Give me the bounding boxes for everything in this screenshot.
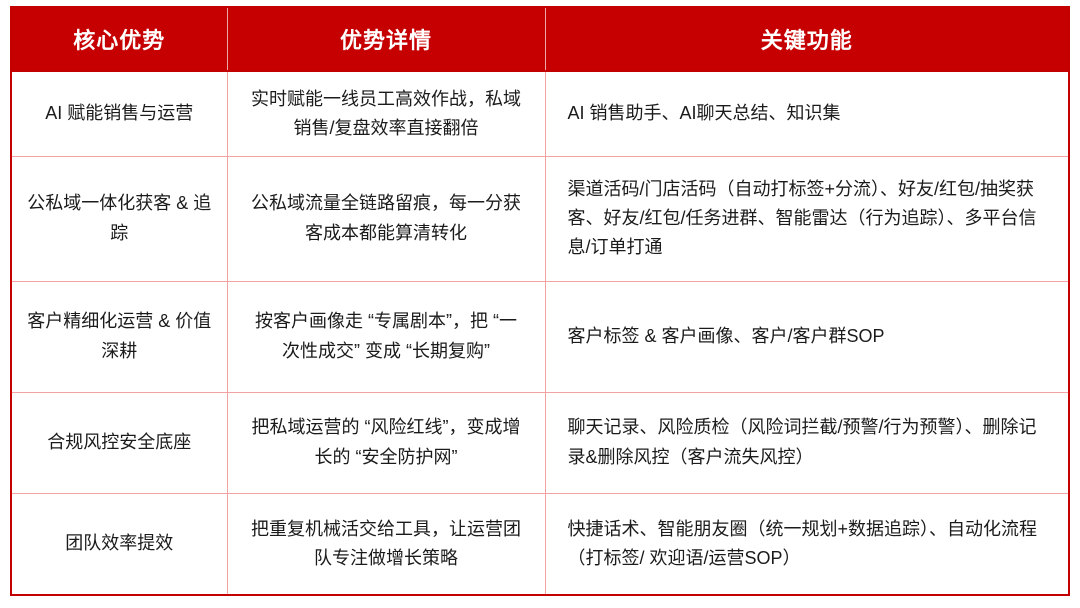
table-row: AI 赋能销售与运营 实时赋能一线员工高效作战，私域销售/复盘效率直接翻倍 AI…: [11, 71, 1069, 156]
cell-core-advantage: AI 赋能销售与运营: [11, 71, 227, 156]
cell-advantage-detail: 实时赋能一线员工高效作战，私域销售/复盘效率直接翻倍: [227, 71, 545, 156]
cell-advantage-detail: 按客户画像走 “专属剧本”，把 “一次性成交” 变成 “长期复购”: [227, 281, 545, 392]
cell-core-advantage: 公私域一体化获客 & 追踪: [11, 156, 227, 281]
cell-key-features: 聊天记录、风险质检（风险词拦截/预警/行为预警）、删除记录&删除风控（客户流失风…: [545, 392, 1069, 493]
table-row: 公私域一体化获客 & 追踪 公私域流量全链路留痕，每一分获客成本都能算清转化 渠…: [11, 156, 1069, 281]
table-row: 合规风控安全底座 把私域运营的 “风险红线”，变成增长的 “安全防护网” 聊天记…: [11, 392, 1069, 493]
cell-advantage-detail: 把重复机械活交给工具，让运营团队专注做增长策略: [227, 493, 545, 595]
table-body: AI 赋能销售与运营 实时赋能一线员工高效作战，私域销售/复盘效率直接翻倍 AI…: [11, 71, 1069, 595]
table-row: 客户精细化运营 & 价值深耕 按客户画像走 “专属剧本”，把 “一次性成交” 变…: [11, 281, 1069, 392]
cell-key-features: AI 销售助手、AI聊天总结、知识集: [545, 71, 1069, 156]
cell-core-advantage: 团队效率提效: [11, 493, 227, 595]
benefits-table: 核心优势 优势详情 关键功能 AI 赋能销售与运营 实时赋能一线员工高效作战，私…: [10, 6, 1070, 596]
table-row: 团队效率提效 把重复机械活交给工具，让运营团队专注做增长策略 快捷话术、智能朋友…: [11, 493, 1069, 595]
column-header-key-features: 关键功能: [545, 7, 1069, 71]
cell-advantage-detail: 公私域流量全链路留痕，每一分获客成本都能算清转化: [227, 156, 545, 281]
cell-key-features: 渠道活码/门店活码（自动打标签+分流）、好友/红包/抽奖获客、好友/红包/任务进…: [545, 156, 1069, 281]
table-header: 核心优势 优势详情 关键功能: [11, 7, 1069, 71]
column-header-advantage-detail: 优势详情: [227, 7, 545, 71]
column-header-core-advantage: 核心优势: [11, 7, 227, 71]
cell-advantage-detail: 把私域运营的 “风险红线”，变成增长的 “安全防护网”: [227, 392, 545, 493]
table-header-row: 核心优势 优势详情 关键功能: [11, 7, 1069, 71]
cell-core-advantage: 合规风控安全底座: [11, 392, 227, 493]
cell-key-features: 客户标签 & 客户画像、客户/客户群SOP: [545, 281, 1069, 392]
cell-key-features: 快捷话术、智能朋友圈（统一规划+数据追踪）、自动化流程（打标签/ 欢迎语/运营S…: [545, 493, 1069, 595]
cell-core-advantage: 客户精细化运营 & 价值深耕: [11, 281, 227, 392]
benefits-table-container: 核心优势 优势详情 关键功能 AI 赋能销售与运营 实时赋能一线员工高效作战，私…: [10, 6, 1068, 592]
